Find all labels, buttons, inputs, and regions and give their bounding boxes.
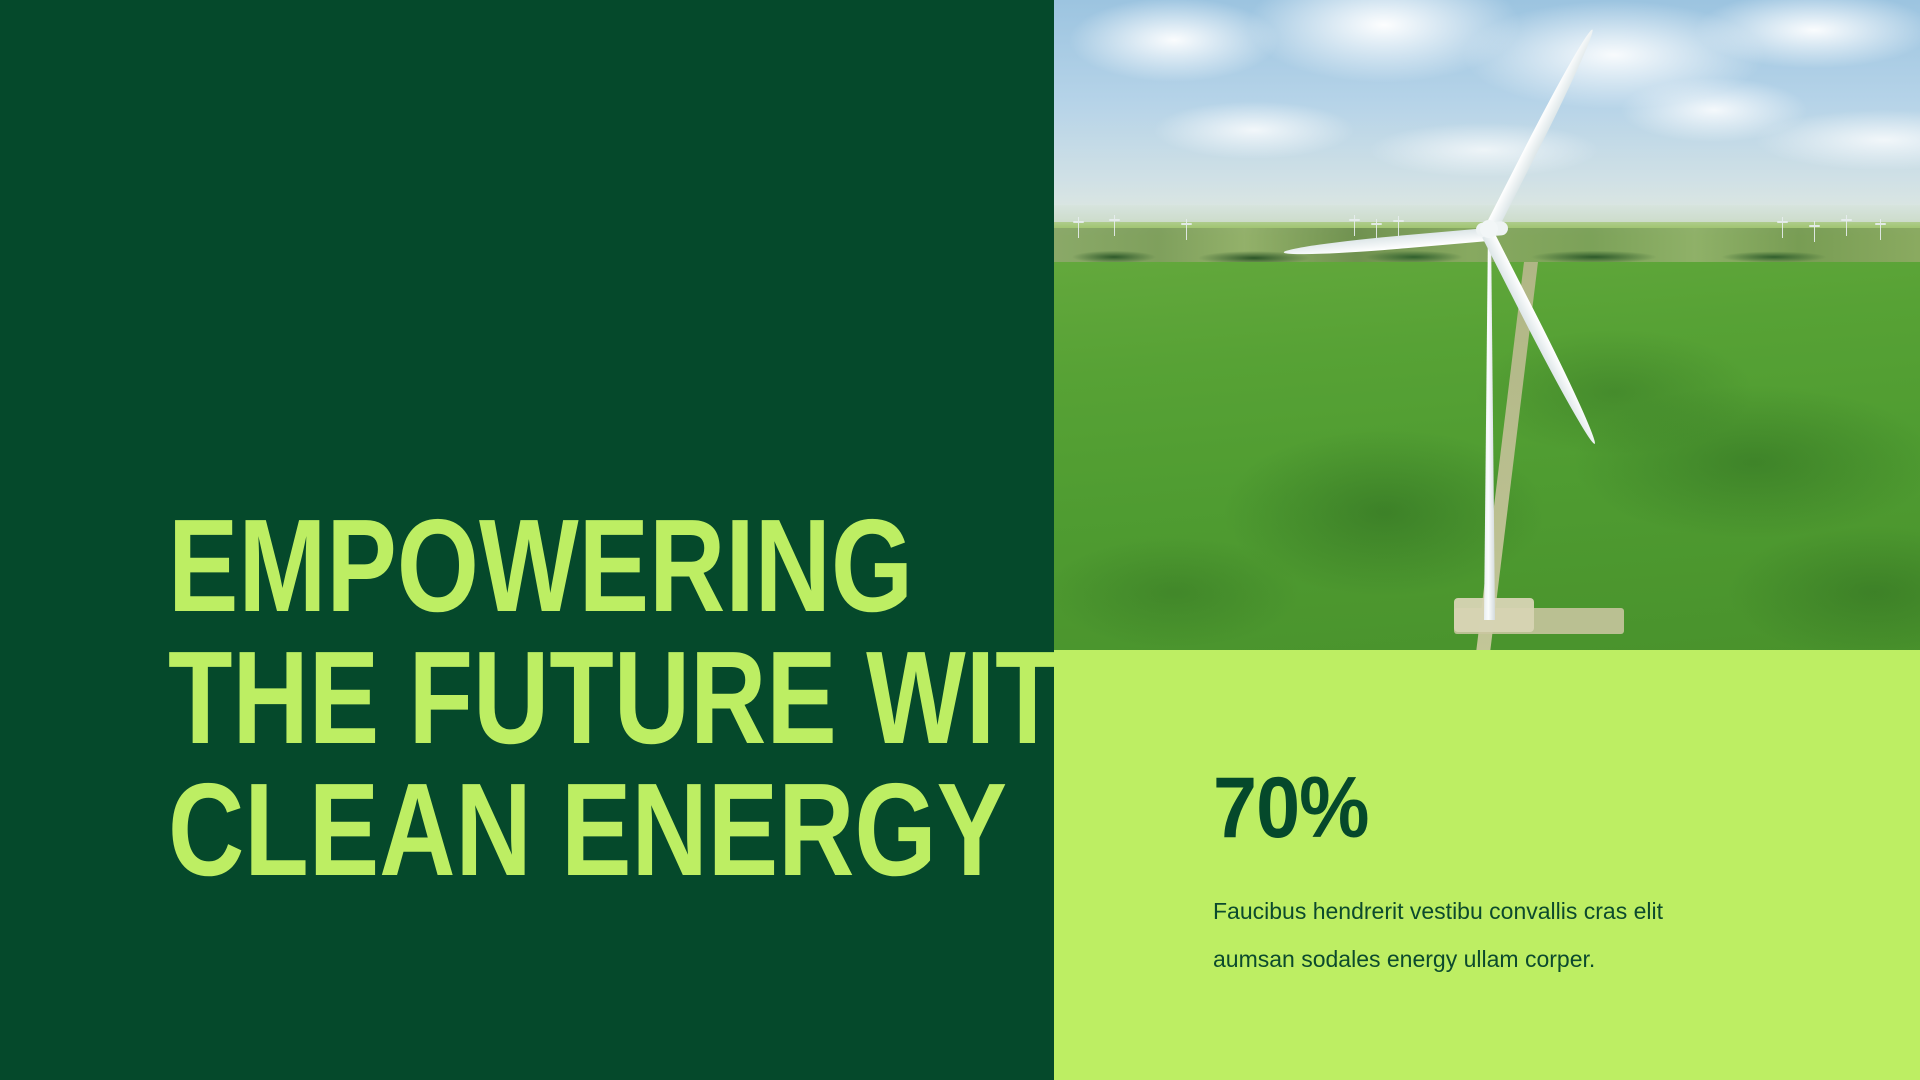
stat-description-line-2: aumsan sodales energy ullam corper.	[1213, 935, 1813, 983]
wind-turbine-photo	[1054, 0, 1920, 650]
headline-line-1: EMPOWERING	[168, 500, 848, 632]
stat-value: 70%	[1213, 765, 1369, 851]
headline-line-3: CLEAN ENERGY	[168, 764, 848, 896]
distant-turbine-icon	[1846, 220, 1847, 236]
left-dark-panel: EMPOWERING THE FUTURE WITH CLEAN ENERGY	[0, 0, 1054, 1080]
distant-turbine-icon	[1782, 222, 1783, 238]
distant-turbine-icon	[1880, 224, 1881, 240]
stat-description-line-1: Faucibus hendrerit vestibu convallis cra…	[1213, 887, 1813, 935]
page-title: EMPOWERING THE FUTURE WITH CLEAN ENERGY	[168, 500, 848, 896]
stat-panel: 70% Faucibus hendrerit vestibu convallis…	[1054, 650, 1920, 1080]
distant-turbine-icon	[1354, 220, 1355, 236]
headline-line-2: THE FUTURE WITH	[168, 632, 848, 764]
distant-turbine-icon	[1398, 221, 1399, 237]
right-column: 70% Faucibus hendrerit vestibu convallis…	[1054, 0, 1920, 1080]
slide-root: EMPOWERING THE FUTURE WITH CLEAN ENERGY	[0, 0, 1920, 1080]
turbine-hub	[1480, 220, 1498, 238]
distant-turbine-icon	[1114, 220, 1115, 236]
distant-turbine-icon	[1814, 226, 1815, 242]
distant-turbine-icon	[1186, 224, 1187, 240]
sky-layer	[1054, 0, 1920, 222]
distant-turbine-icon	[1078, 222, 1079, 238]
stat-description: Faucibus hendrerit vestibu convallis cra…	[1213, 887, 1813, 983]
